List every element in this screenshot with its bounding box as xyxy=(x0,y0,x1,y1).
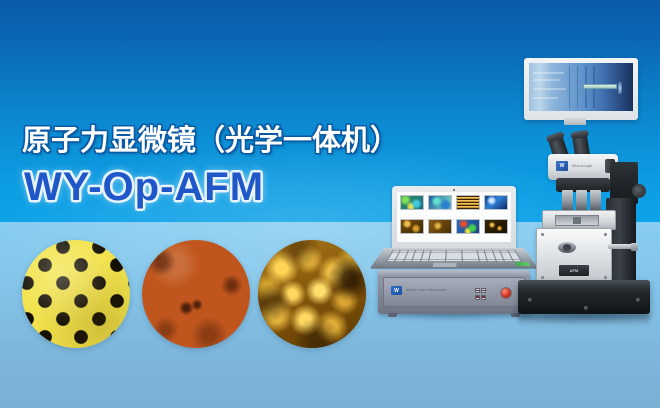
sample-scan-granular xyxy=(258,240,366,348)
objective-lens xyxy=(562,190,573,212)
display-measurement-bar xyxy=(583,84,617,89)
screen-thumbnail[interactable] xyxy=(399,194,426,217)
display-glint xyxy=(618,82,622,94)
screen-thumbnail-image xyxy=(456,195,480,210)
sample-holder-slot xyxy=(555,215,599,226)
screen-thumbnail[interactable] xyxy=(399,218,426,241)
keyboard-key[interactable] xyxy=(454,259,462,261)
microscope-base xyxy=(518,280,650,314)
screen-thumbnail[interactable] xyxy=(427,194,454,217)
eyepiece-cap xyxy=(545,131,564,143)
scanner-top-plate xyxy=(542,210,616,230)
controller-port[interactable] xyxy=(475,288,480,293)
laptop-lid xyxy=(392,186,516,252)
keyboard-key[interactable] xyxy=(463,259,471,261)
afm-scanner-head: AFM xyxy=(536,228,612,284)
keyboard-key[interactable] xyxy=(479,259,487,261)
laptop-touchpad[interactable] xyxy=(433,263,457,267)
screen-thumbnail-image xyxy=(400,219,424,234)
page-title: 原子力显微镜（光学一体机） xyxy=(22,124,399,158)
objective-lens xyxy=(590,190,601,212)
keyboard-key[interactable] xyxy=(471,259,479,261)
sample-scan-spiral-growth xyxy=(142,240,250,348)
scanner-plate-text: AFM xyxy=(570,268,579,273)
base-top-surface xyxy=(518,280,650,288)
eyepiece-cap xyxy=(570,130,589,140)
objective-lens xyxy=(576,190,587,212)
keyboard-key[interactable] xyxy=(395,259,404,261)
controller-foot xyxy=(388,313,397,317)
illumination-lens xyxy=(632,184,646,198)
controller-port[interactable] xyxy=(481,288,486,293)
keyboard-key[interactable] xyxy=(412,259,420,261)
screen-thumbnail-image xyxy=(428,195,452,210)
screen-thumbnail-image xyxy=(400,195,424,210)
controller-port[interactable] xyxy=(481,295,486,300)
screen-thumbnail-image xyxy=(456,219,480,234)
keyboard-key[interactable] xyxy=(421,259,429,261)
optical-display-screen xyxy=(529,63,633,111)
base-reflection xyxy=(518,314,650,327)
keyboard-key[interactable] xyxy=(488,259,496,261)
screen-thumbnail-image xyxy=(428,219,452,234)
controller-port-group[interactable] xyxy=(475,288,487,300)
controller-label: Atomic Force Microscope xyxy=(406,288,447,292)
screen-thumbnail[interactable] xyxy=(455,218,482,241)
keyboard-key[interactable] xyxy=(437,259,445,261)
microscope-head-logo: W xyxy=(556,161,568,171)
focus-knob[interactable] xyxy=(558,242,576,253)
screen-thumbnail[interactable] xyxy=(455,194,482,217)
stage-rod-cap xyxy=(631,243,638,251)
afm-optical-microscope: W Microscope AFM xyxy=(500,58,660,330)
monitor-neck xyxy=(564,118,586,125)
product-banner: 原子力显微镜（光学一体机） WY-Op-AFM W xyxy=(0,0,660,408)
keyboard-key[interactable] xyxy=(446,259,454,261)
microscope-head-label: Microscope xyxy=(572,164,592,168)
optical-display-monitor xyxy=(524,58,638,120)
webcam-icon xyxy=(453,189,455,191)
stage-translation-rod[interactable] xyxy=(608,244,634,249)
screen-thumbnail[interactable] xyxy=(427,218,454,241)
granular-shading xyxy=(258,240,366,348)
model-name: WY-Op-AFM xyxy=(24,163,264,211)
sample-scan-dot-array xyxy=(22,240,130,348)
dot-array-shading xyxy=(22,240,130,348)
controller-port[interactable] xyxy=(475,295,480,300)
laptop-screen xyxy=(397,192,511,242)
scanner-nameplate: AFM xyxy=(559,265,589,276)
spiral-shading xyxy=(142,240,250,348)
controller-logo: W xyxy=(391,286,402,295)
keyboard-key[interactable] xyxy=(404,259,412,261)
microscope-head: W Microscope xyxy=(548,154,618,180)
keyboard-key[interactable] xyxy=(429,259,437,261)
